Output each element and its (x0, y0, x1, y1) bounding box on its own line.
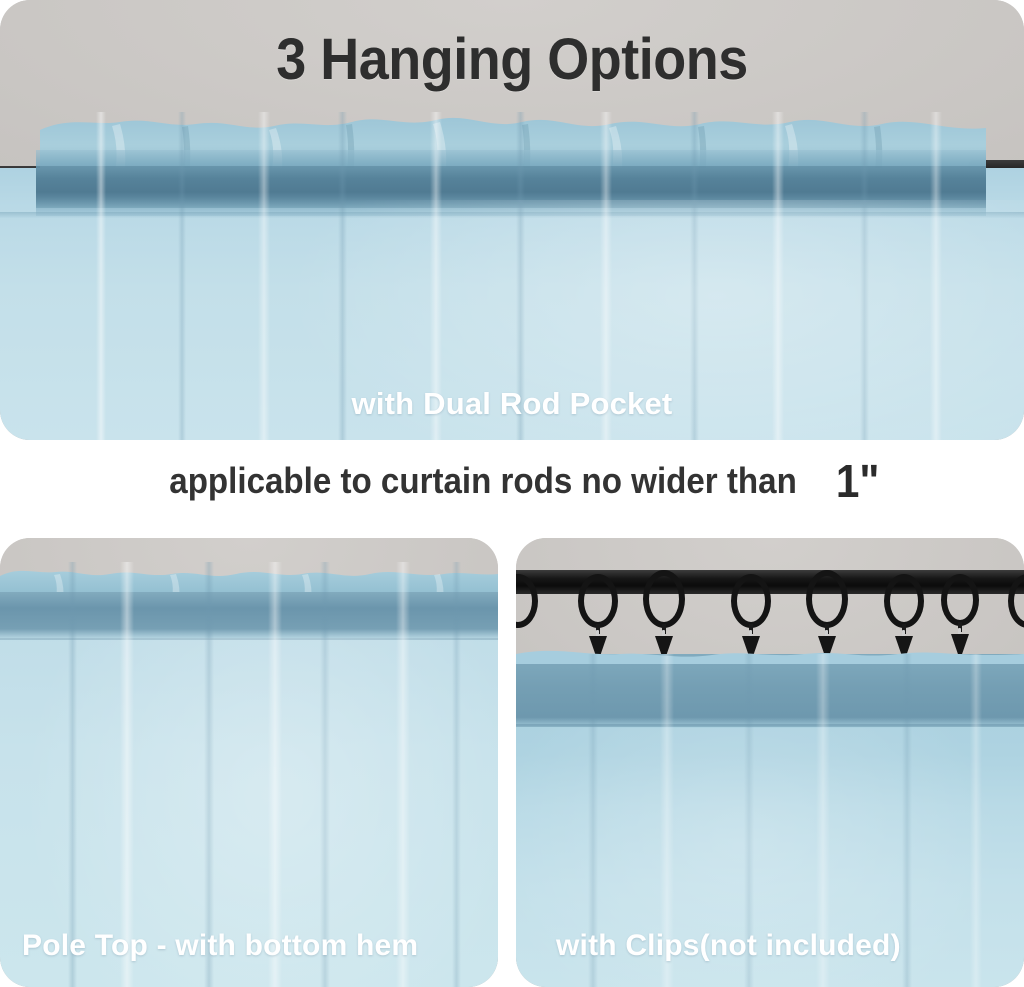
caption-dual-rod-pocket: with Dual Rod Pocket (0, 386, 1024, 422)
rod-width-note-text: applicable to curtain rods no wider than (170, 460, 798, 502)
header-seam-br (516, 724, 1024, 727)
rod-width-note: applicable to curtain rods no wider than… (0, 452, 1024, 510)
curtain-ring (806, 570, 848, 628)
rod-showthrough-band-bl (0, 592, 498, 638)
caption-pole-top: Pole Top - with bottom hem (22, 929, 418, 963)
rod-pocket-seam-top (0, 212, 1024, 218)
curtain-ring (516, 574, 538, 628)
curtain-ring (941, 574, 979, 626)
panel-clip-rings: with Clips(not included) (516, 538, 1024, 987)
rod-width-note-emphasis: 1" (836, 458, 880, 504)
curtain-ring (643, 570, 685, 628)
caption-clip-rings: with Clips(not included) (556, 929, 901, 963)
header-seam-bl (0, 638, 498, 640)
curtain-fabric-bl (0, 592, 498, 987)
curtain-ring (731, 574, 771, 628)
curtain-ring (884, 574, 924, 628)
infographic-page: with Dual Rod Pocket 3 Hanging Options a… (0, 0, 1024, 987)
curtain-ring (1008, 574, 1024, 628)
curtain-ring (578, 574, 618, 628)
page-title: 3 Hanging Options (36, 26, 988, 93)
panel-pole-top: Pole Top - with bottom hem (0, 538, 498, 987)
rod-showthrough-band-br (516, 654, 1024, 726)
fabric-edge-shape (516, 642, 1024, 664)
fabric-top-edge-br (516, 642, 1024, 664)
rod-showthrough-band-top (36, 166, 986, 208)
